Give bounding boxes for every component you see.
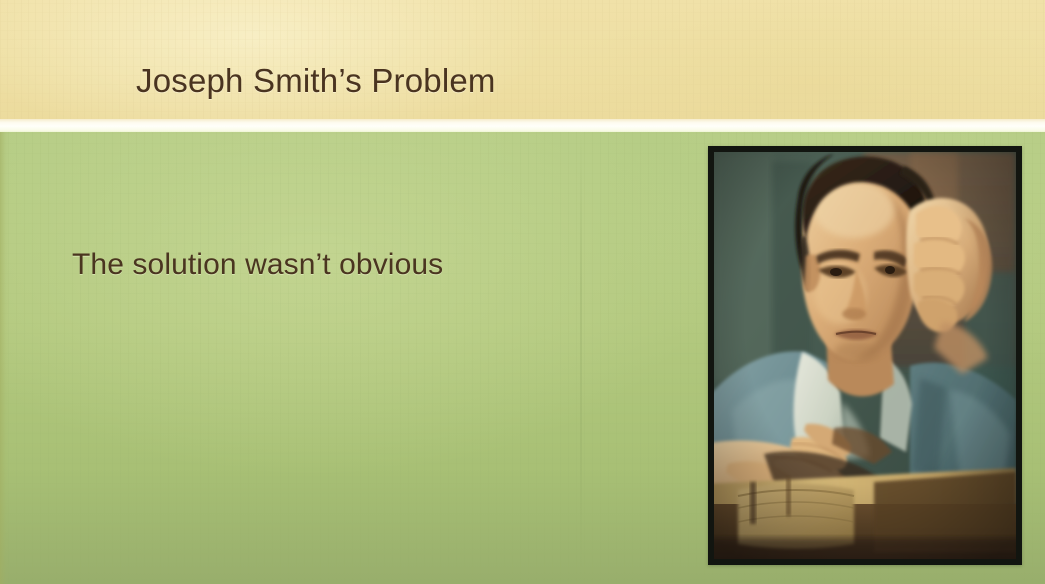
slide-body-text: The solution wasn’t obvious [72,248,443,282]
joseph-smith-painting-image [714,152,1016,559]
presentation-slide: Joseph Smith’s Problem The solution wasn… [0,0,1045,584]
picture-frame [708,146,1022,565]
picture-inner [714,152,1016,559]
slide-title: Joseph Smith’s Problem [136,62,496,100]
slide-header-band [0,0,1045,121]
